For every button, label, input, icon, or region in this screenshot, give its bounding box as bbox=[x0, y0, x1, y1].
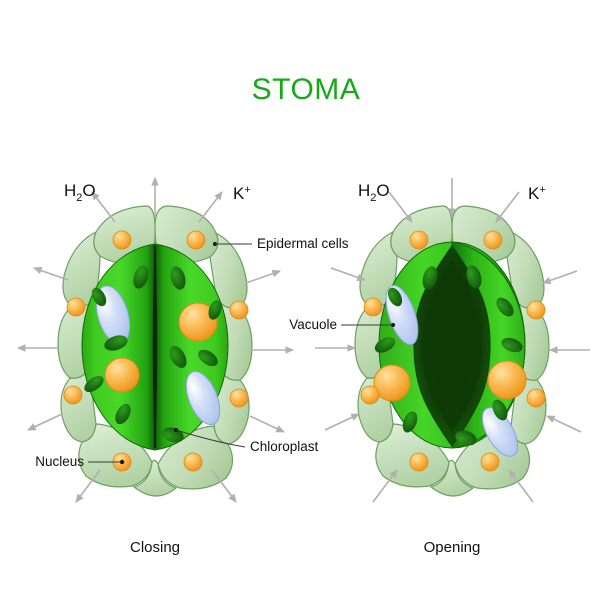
label-water-right: H2O bbox=[358, 181, 390, 204]
nucleus-left-closing bbox=[105, 358, 139, 392]
caption-opening: Opening bbox=[424, 539, 481, 556]
diagram-closing: H2O K+ Closing bbox=[18, 178, 293, 556]
label-potassium-left: K+ bbox=[233, 184, 251, 203]
page-title: STOMA bbox=[252, 73, 361, 106]
stoma-diagram-canvas: STOMA bbox=[0, 0, 612, 612]
label-water-left: H2O bbox=[64, 181, 96, 204]
guard-cells-closed bbox=[82, 244, 228, 450]
nucleus-left-opening bbox=[374, 365, 410, 401]
label-potassium-right: K+ bbox=[528, 184, 546, 203]
label-epidermal-cells: Epidermal cells bbox=[257, 236, 349, 251]
caption-closing: Closing bbox=[130, 539, 180, 556]
label-nucleus: Nucleus bbox=[35, 454, 84, 469]
label-vacuole: Vacuole bbox=[289, 317, 337, 332]
nucleus-right-opening bbox=[488, 361, 526, 399]
diagram-opening: H2O K+ Opening bbox=[315, 178, 590, 556]
label-chloroplast: Chloroplast bbox=[250, 439, 319, 454]
